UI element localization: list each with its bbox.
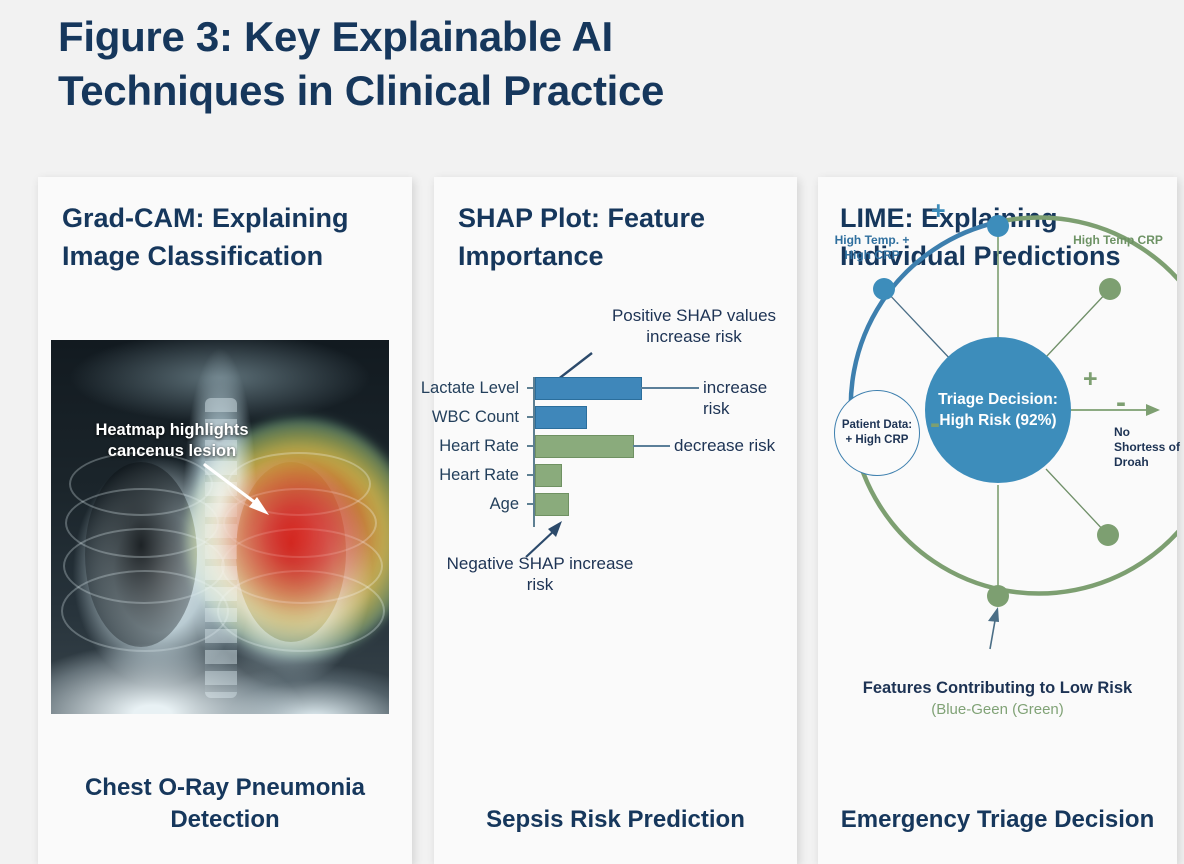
annotation-arrow-icon	[203, 463, 277, 521]
lime-sign-minus-right: -	[1116, 394, 1126, 412]
lime-center-line2: High Risk (92%)	[939, 412, 1056, 429]
shap-category-label: Heart Rate	[359, 437, 519, 456]
cards-container: Grad-CAM: Explaining Image Classificatio…	[0, 177, 1184, 864]
shap-category-label: WBC Count	[359, 408, 519, 427]
lime-node-label-high-temp-crp-blue: High Temp. + High CRP	[826, 233, 918, 263]
shap-leader-line	[641, 387, 699, 389]
lime-center-node: Triage Decision: High Risk (92%)	[925, 337, 1071, 483]
lime-sign-plus-top: +	[931, 199, 946, 224]
xray-image: Heatmap highlights cancenus lesion	[51, 340, 389, 714]
card-gradcam-title: Grad-CAM: Explaining Image Classificatio…	[62, 199, 398, 275]
lime-footer: Features Contributing to Low Risk (Blue-…	[818, 677, 1177, 720]
shap-category-label: Heart Rate	[359, 466, 519, 485]
lime-center-line1: Triage Decision:	[938, 391, 1058, 408]
shap-annotation-positive: Positive SHAP values increase risk	[594, 305, 794, 347]
lime-sign-minus-left: -	[930, 415, 940, 433]
shap-chart: Positive SHAP values increase risk Lacta…	[434, 287, 797, 787]
card-gradcam: Grad-CAM: Explaining Image Classificatio…	[38, 177, 412, 864]
lime-sign-plus-right: +	[1083, 367, 1098, 392]
page-title: Figure 3: Key Explainable AI Techniques …	[58, 10, 758, 118]
lime-center-text: Triage Decision: High Risk (92%)	[938, 389, 1058, 431]
shap-bar	[535, 377, 642, 400]
shap-bar	[535, 493, 569, 516]
shap-tick	[527, 387, 534, 389]
lime-patient-node: Patient Data: + High CRP	[834, 390, 920, 476]
card-lime-caption: Emergency Triage Decision	[818, 804, 1177, 836]
shap-tick	[527, 445, 534, 447]
shap-bar	[535, 406, 587, 429]
lime-node-label-no-shortness: No Shortess of Droah	[1114, 425, 1180, 470]
shap-category-label: Lactate Level	[359, 379, 519, 398]
xray-annotation-text: Heatmap highlights cancenus lesion	[77, 420, 267, 462]
lime-patient-line1: Patient Data:	[842, 419, 912, 431]
lime-patient-line2: + High CRP	[846, 434, 909, 446]
lime-footer-line2: (Blue-Geen (Green)	[818, 699, 1177, 720]
shap-label-increase-risk: increase risk	[703, 377, 797, 419]
shap-leader-line	[633, 445, 670, 447]
shap-bar	[535, 435, 634, 458]
lime-node-label-high-temp-crp-green: High Temp CRP	[1068, 233, 1168, 248]
card-lime: LIME: Explaining Individual Predictions	[818, 177, 1177, 864]
card-gradcam-caption: Chest O-Ray Pneumonia Detection	[38, 772, 412, 836]
shap-category-label: Age	[359, 495, 519, 514]
shap-tick	[527, 416, 534, 418]
shap-tick	[527, 503, 534, 505]
shap-annotation-negative: Negative SHAP increase risk	[434, 553, 646, 595]
shap-tick	[527, 474, 534, 476]
card-shap: SHAP Plot: Feature Importance Positive S…	[434, 177, 797, 864]
lime-footer-line1: Features Contributing to Low Risk	[818, 677, 1177, 699]
lime-diagram: Triage Decision: High Risk (92%) Patient…	[818, 197, 1177, 757]
card-shap-caption: Sepsis Risk Prediction	[434, 804, 797, 836]
shap-bar	[535, 464, 562, 487]
lime-patient-text: Patient Data: + High CRP	[842, 418, 912, 448]
shap-label-decrease-risk: decrease risk	[674, 435, 775, 456]
card-shap-title: SHAP Plot: Feature Importance	[458, 199, 783, 275]
